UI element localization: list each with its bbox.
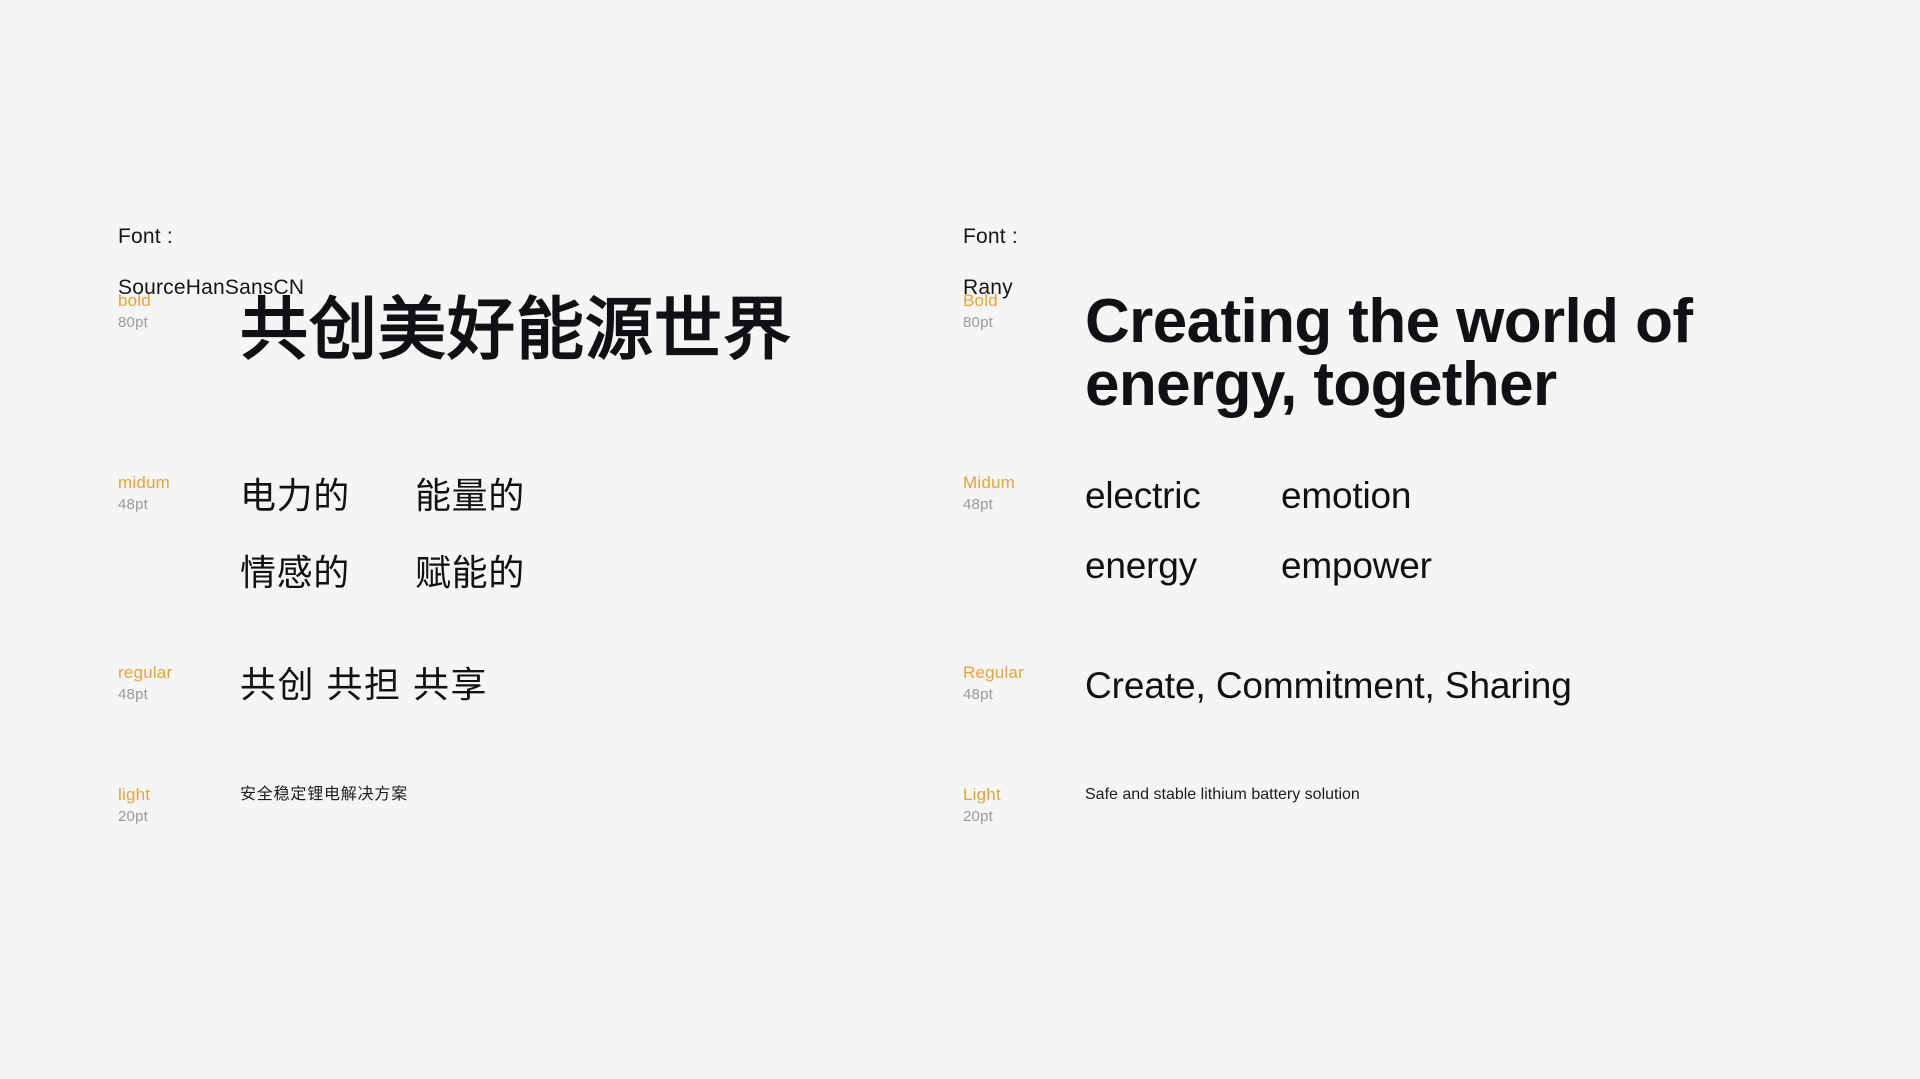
weight-size: 20pt xyxy=(118,808,248,827)
sample-text: Create, Commitment, Sharing xyxy=(1085,662,1572,710)
sample-text: 共创美好能源世界 xyxy=(240,290,792,370)
weight-samples: 共创美好能源世界 xyxy=(240,290,792,370)
weight-meta: Bold 80pt xyxy=(963,290,1093,333)
sample-text: electric xyxy=(1085,472,1281,520)
weight-samples: 电力的 能量的 情感的 赋能的 xyxy=(240,472,525,597)
sample-text: 电力的 xyxy=(240,472,415,521)
sample-text: empower xyxy=(1281,542,1432,590)
weight-size: 80pt xyxy=(963,314,1093,333)
sample-text: emotion xyxy=(1281,472,1432,520)
weight-size: 48pt xyxy=(118,496,248,515)
weight-samples: Safe and stable lithium battery solution xyxy=(1085,784,1360,806)
sample-text: 共创 共担 共享 xyxy=(240,662,488,709)
weight-samples: 共创 共担 共享 xyxy=(240,662,488,709)
weight-samples: Creating the world of energy, together xyxy=(1085,290,1692,416)
font-header-label: Font : xyxy=(963,224,1018,250)
typography-specimen-sheet: Font : SourceHanSansCN bold 80pt 共创美好能源世… xyxy=(0,0,1920,1079)
sample-text: 安全稳定锂电解决方案 xyxy=(240,784,408,806)
sample-text: 情感的 xyxy=(240,549,415,598)
weight-meta: bold 80pt xyxy=(118,290,248,333)
weight-name: Regular xyxy=(963,662,1093,683)
font-header-label: Font : xyxy=(118,224,304,250)
weight-size: 48pt xyxy=(963,686,1093,705)
weight-meta: Light 20pt xyxy=(963,784,1093,827)
sample-text: energy xyxy=(1085,542,1281,590)
weight-name: Bold xyxy=(963,290,1093,311)
weight-name: midum xyxy=(118,472,248,493)
weight-samples: Create, Commitment, Sharing xyxy=(1085,662,1572,710)
weight-size: 80pt xyxy=(118,314,248,333)
weight-name: light xyxy=(118,784,248,805)
weight-samples: electric emotion energy empower xyxy=(1085,472,1432,590)
weight-meta: Midum 48pt xyxy=(963,472,1093,515)
weight-meta: Regular 48pt xyxy=(963,662,1093,705)
weight-meta: midum 48pt xyxy=(118,472,248,515)
sample-text: Safe and stable lithium battery solution xyxy=(1085,784,1360,806)
weight-name: Midum xyxy=(963,472,1093,493)
sample-text: Creating the world of energy, together xyxy=(1085,290,1692,416)
weight-name: Light xyxy=(963,784,1093,805)
weight-name: bold xyxy=(118,290,248,311)
weight-size: 48pt xyxy=(118,686,248,705)
weight-size: 48pt xyxy=(963,496,1093,515)
weight-samples: 安全稳定锂电解决方案 xyxy=(240,784,408,806)
sample-text: 能量的 xyxy=(415,472,525,521)
weight-size: 20pt xyxy=(963,808,1093,827)
weight-meta: regular 48pt xyxy=(118,662,248,705)
sample-text: 赋能的 xyxy=(415,549,525,598)
weight-name: regular xyxy=(118,662,248,683)
weight-meta: light 20pt xyxy=(118,784,248,827)
